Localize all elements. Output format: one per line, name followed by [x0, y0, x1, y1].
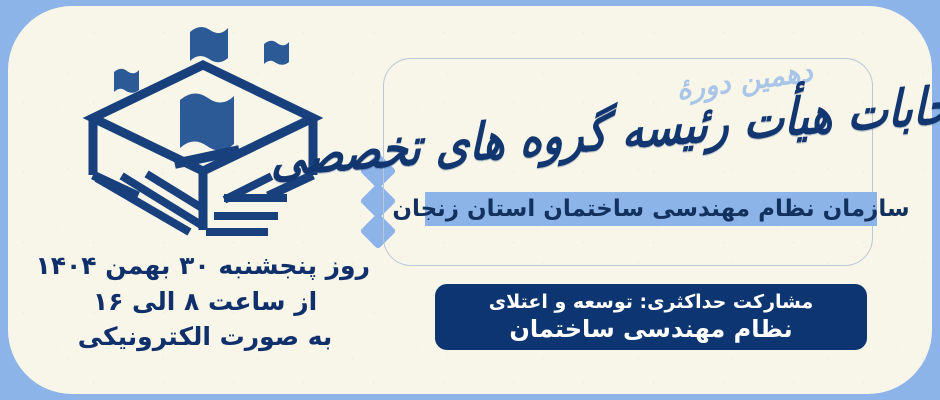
event-mode: به صورت الکترونیکی	[40, 319, 370, 355]
main-title: انتخابات هیأت رئیسه گروه های تخصصی	[396, 76, 866, 188]
organization-bar: سازمان نظام مهندسی ساختمان استان زنجان	[425, 192, 877, 226]
event-time: از ساعت ۸ الی ۱۶	[40, 284, 370, 320]
event-details: روز پنجشنبه ۳۰ بهمن ۱۴۰۴ از ساعت ۸ الی ۱…	[40, 248, 370, 355]
slogan-box: مشارکت حداکثری: توسعه و اعتلای نظام مهند…	[435, 284, 867, 350]
organization-name: سازمان نظام مهندسی ساختمان استان زنجان	[392, 196, 909, 222]
slogan-line-1: مشارکت حداکثری: توسعه و اعتلای	[489, 291, 813, 313]
slogan-line-2: نظام مهندسی ساختمان	[509, 315, 792, 343]
election-banner: روز پنجشنبه ۳۰ بهمن ۱۴۰۴ از ساعت ۸ الی ۱…	[0, 0, 940, 400]
event-date: روز پنجشنبه ۳۰ بهمن ۱۴۰۴	[40, 248, 370, 284]
